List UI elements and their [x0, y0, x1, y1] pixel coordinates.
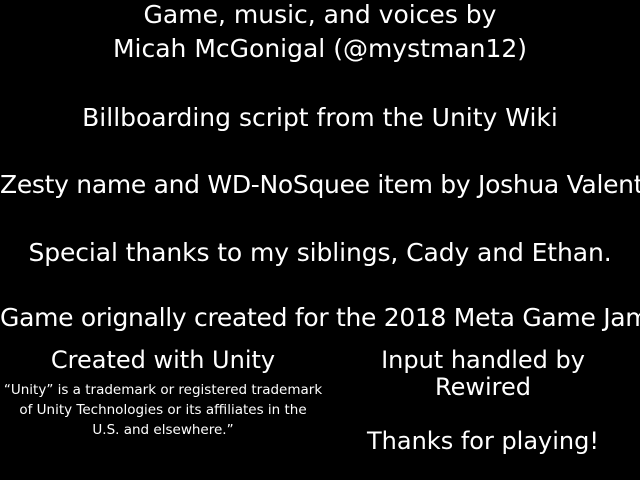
unity-trademark-line-1: “Unity” is a trademark or registered tra…: [1, 380, 325, 400]
input-credit-column: Input handled by Rewired Thanks for play…: [326, 345, 640, 455]
input-handled-by-label: Input handled by: [326, 347, 640, 374]
created-with-unity-heading: Created with Unity: [0, 347, 326, 374]
credit-game-jam-origin: Game orignally created for the 2018 Meta…: [0, 305, 640, 331]
credits-bottom-columns: Created with Unity “Unity” is a trademar…: [0, 345, 640, 480]
credit-author-name: Micah McGonigal (@mystman12): [0, 36, 640, 62]
credit-author-label: Game, music, and voices by: [0, 2, 640, 28]
thanks-for-playing-message: Thanks for playing!: [326, 427, 640, 455]
credit-billboarding-script: Billboarding script from the Unity Wiki: [0, 105, 640, 131]
unity-trademark-notice: “Unity” is a trademark or registered tra…: [0, 380, 326, 441]
unity-trademark-line-2: of Unity Technologies or its affiliates …: [1, 400, 325, 420]
credit-zesty-name-contributor: Zesty name and WD-NoSquee item by Joshua…: [0, 172, 640, 198]
credit-special-thanks-siblings: Special thanks to my siblings, Cady and …: [0, 240, 640, 266]
game-credits-screen: Game, music, and voices by Micah McGonig…: [0, 0, 640, 480]
rewired-label: Rewired: [326, 374, 640, 401]
input-handled-by-heading: Input handled by Rewired: [326, 347, 640, 401]
unity-trademark-line-3: U.S. and elsewhere.”: [1, 420, 325, 440]
unity-credit-column: Created with Unity “Unity” is a trademar…: [0, 345, 326, 441]
